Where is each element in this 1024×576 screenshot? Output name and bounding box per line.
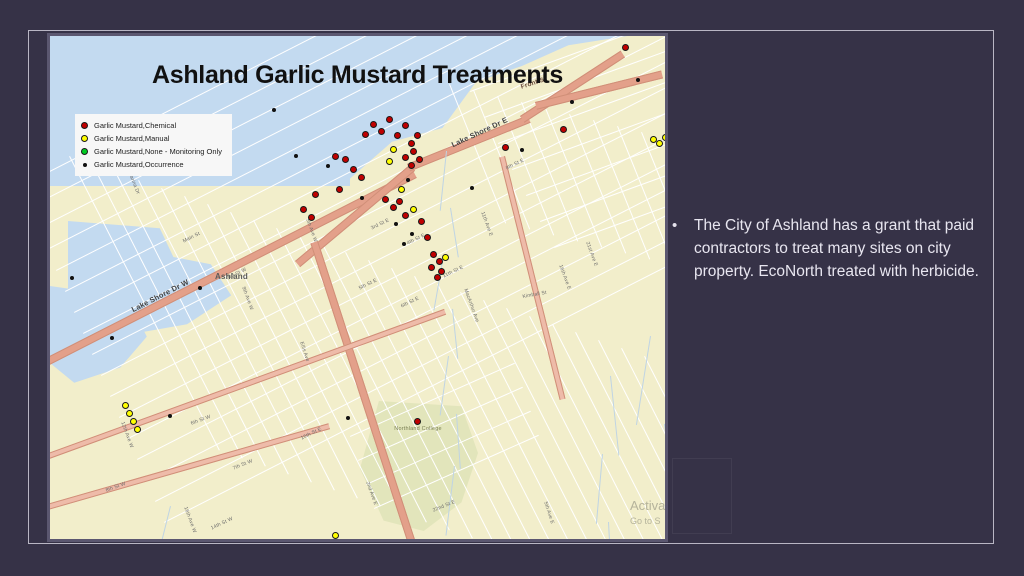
presentation-slide: Lake Shore Dr EFront StLake Shore Dr WMa… xyxy=(0,0,1024,576)
point-manual[interactable] xyxy=(126,410,133,417)
legend-label-monitoring: Garlic Mustard,None - Monitoring Only xyxy=(94,147,222,156)
point-manual[interactable] xyxy=(656,140,663,147)
legend-swatch-manual-icon xyxy=(81,135,88,142)
point-chemical[interactable] xyxy=(390,204,397,211)
point-chemical[interactable] xyxy=(336,186,343,193)
point-chemical[interactable] xyxy=(418,218,425,225)
point-chemical[interactable] xyxy=(502,144,509,151)
legend-swatch-chemical-icon xyxy=(81,122,88,129)
point-chemical[interactable] xyxy=(622,44,629,51)
point-chemical[interactable] xyxy=(396,198,403,205)
point-occurrence[interactable] xyxy=(360,196,364,200)
map-title: Ashland Garlic Mustard Treatments xyxy=(50,61,665,90)
point-manual[interactable] xyxy=(130,418,137,425)
point-chemical[interactable] xyxy=(308,214,315,221)
point-chemical[interactable] xyxy=(408,162,415,169)
point-chemical[interactable] xyxy=(378,128,385,135)
point-occurrence[interactable] xyxy=(326,164,330,168)
point-occurrence[interactable] xyxy=(272,108,276,112)
point-chemical[interactable] xyxy=(402,154,409,161)
point-chemical[interactable] xyxy=(414,418,421,425)
point-chemical[interactable] xyxy=(332,153,339,160)
point-chemical[interactable] xyxy=(362,131,369,138)
point-chemical[interactable] xyxy=(394,132,401,139)
point-occurrence[interactable] xyxy=(168,414,172,418)
point-chemical[interactable] xyxy=(410,148,417,155)
point-chemical[interactable] xyxy=(414,132,421,139)
point-occurrence[interactable] xyxy=(410,232,414,236)
bullet-paragraph: • The City of Ashland has a grant that p… xyxy=(672,214,990,283)
point-chemical[interactable] xyxy=(382,196,389,203)
point-occurrence[interactable] xyxy=(402,242,406,246)
point-chemical[interactable] xyxy=(430,251,437,258)
point-manual[interactable] xyxy=(122,402,129,409)
point-occurrence[interactable] xyxy=(394,222,398,226)
map-image-frame: Lake Shore Dr EFront StLake Shore Dr WMa… xyxy=(47,33,668,542)
point-chemical[interactable] xyxy=(342,156,349,163)
point-chemical[interactable] xyxy=(300,206,307,213)
legend-item-chemical: Garlic Mustard,Chemical xyxy=(81,119,222,132)
point-chemical[interactable] xyxy=(428,264,435,271)
map-legend: Garlic Mustard,Chemical Garlic Mustard,M… xyxy=(75,114,232,176)
point-occurrence[interactable] xyxy=(520,148,524,152)
point-manual[interactable] xyxy=(390,146,397,153)
legend-item-monitoring: Garlic Mustard,None - Monitoring Only xyxy=(81,145,222,158)
legend-label-chemical: Garlic Mustard,Chemical xyxy=(94,121,176,130)
legend-label-manual: Garlic Mustard,Manual xyxy=(94,134,169,143)
point-occurrence[interactable] xyxy=(570,100,574,104)
point-manual[interactable] xyxy=(410,206,417,213)
point-occurrence[interactable] xyxy=(294,154,298,158)
point-occurrence[interactable] xyxy=(70,276,74,280)
watermark-line-1: Activa xyxy=(630,498,665,513)
point-chemical[interactable] xyxy=(402,212,409,219)
activate-windows-watermark: Activa Go to S xyxy=(630,498,665,526)
point-chemical[interactable] xyxy=(402,122,409,129)
empty-content-placeholder xyxy=(672,458,732,534)
point-chemical[interactable] xyxy=(416,156,423,163)
point-chemical[interactable] xyxy=(370,121,377,128)
point-manual[interactable] xyxy=(386,158,393,165)
point-occurrence[interactable] xyxy=(110,336,114,340)
point-chemical[interactable] xyxy=(560,126,567,133)
point-occurrence[interactable] xyxy=(470,186,474,190)
point-manual[interactable] xyxy=(442,254,449,261)
point-chemical[interactable] xyxy=(312,191,319,198)
point-chemical[interactable] xyxy=(434,274,441,281)
point-chemical[interactable] xyxy=(358,174,365,181)
point-occurrence[interactable] xyxy=(406,178,410,182)
point-manual[interactable] xyxy=(332,532,339,539)
point-occurrence[interactable] xyxy=(346,416,350,420)
bullet-marker: • xyxy=(672,214,694,283)
legend-swatch-occurrence-icon xyxy=(83,163,87,167)
legend-swatch-monitoring-icon xyxy=(81,148,88,155)
point-manual[interactable] xyxy=(662,134,665,141)
watermark-line-2: Go to S xyxy=(630,516,665,526)
legend-label-occurrence: Garlic Mustard,Occurrence xyxy=(94,160,184,169)
point-manual[interactable] xyxy=(134,426,141,433)
bullet-body-text: The City of Ashland has a grant that pai… xyxy=(694,214,990,283)
legend-item-occurrence: Garlic Mustard,Occurrence xyxy=(81,158,222,171)
point-chemical[interactable] xyxy=(408,140,415,147)
point-chemical[interactable] xyxy=(350,166,357,173)
point-occurrence[interactable] xyxy=(198,286,202,290)
point-manual[interactable] xyxy=(398,186,405,193)
ashland-map[interactable]: Lake Shore Dr EFront StLake Shore Dr WMa… xyxy=(50,36,665,539)
point-chemical[interactable] xyxy=(386,116,393,123)
legend-item-manual: Garlic Mustard,Manual xyxy=(81,132,222,145)
point-chemical[interactable] xyxy=(424,234,431,241)
